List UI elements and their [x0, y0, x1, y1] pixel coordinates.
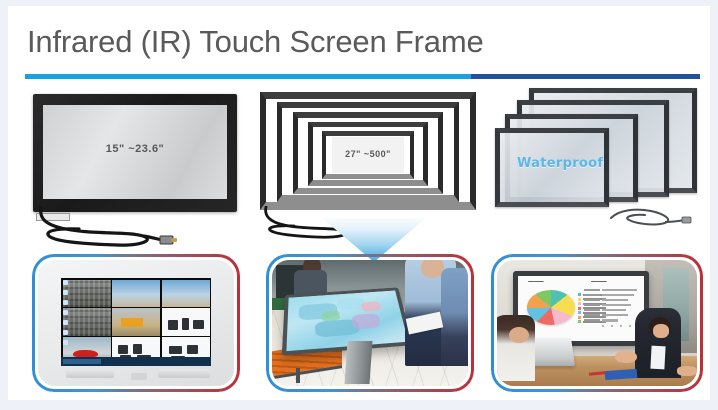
page-title: Infrared (IR) Touch Screen Frame — [27, 24, 483, 60]
usb-cable-icon — [31, 206, 181, 250]
application-photo-video-wall — [32, 254, 240, 392]
divider-segment-dark — [471, 74, 701, 79]
size-label-2: 27" ~500" — [332, 149, 404, 159]
monitor-screen: 15" ~23.6" — [43, 105, 227, 199]
product-image-stacked-frames: Waterproof — [495, 88, 705, 248]
size-label-1: 15" ~23.6" — [43, 143, 227, 155]
product-image-nested-frames: 27" ~500" — [256, 88, 480, 248]
application-photo-meeting-room: ▬▬▬▬▬▬ ▬▬▬▬▬▬ — [491, 254, 703, 392]
title-divider — [25, 74, 700, 79]
application-photo-touch-kiosk — [266, 254, 474, 392]
monitor-bezel: 15" ~23.6" — [33, 94, 237, 212]
nested-frame-inner-screen: 27" ~500" — [332, 137, 404, 173]
dashed-highlight-border — [32, 254, 240, 392]
nested-frame-stack: 27" ~500" — [260, 92, 476, 216]
divider-segment-light — [25, 74, 471, 79]
slide-canvas: Infrared (IR) Touch Screen Frame 15" ~23… — [8, 6, 710, 400]
usb-cable-icon — [607, 200, 692, 228]
dashed-highlight-border — [266, 254, 474, 392]
waterproof-watermark: Waterproof — [517, 156, 603, 171]
dashed-highlight-border — [491, 254, 703, 392]
slide-root: Infrared (IR) Touch Screen Frame 15" ~23… — [0, 0, 718, 410]
product-image-single-frame: 15" ~23.6" — [25, 88, 245, 248]
